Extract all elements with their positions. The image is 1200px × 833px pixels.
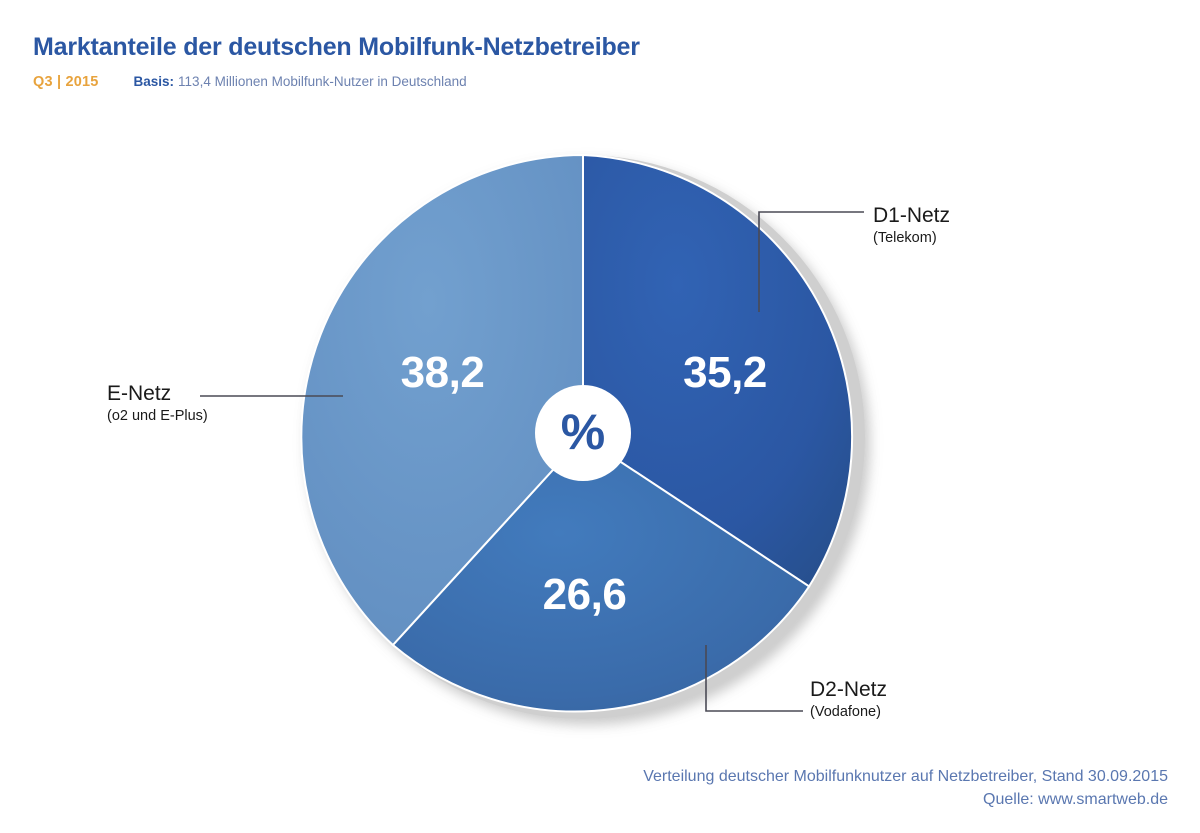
callout-d2: D2-Netz (Vodafone) bbox=[810, 678, 887, 720]
slice-value-d2: 26,6 bbox=[517, 570, 652, 620]
leader-line-d1 bbox=[759, 212, 864, 312]
callout-d2-name: D2-Netz bbox=[810, 678, 887, 702]
basis-value: 113,4 Millionen Mobilfunk-Nutzer in Deut… bbox=[178, 74, 467, 89]
slice-value-e: 38,2 bbox=[375, 348, 510, 398]
callout-d1-name: D1-Netz bbox=[873, 204, 950, 228]
leader-line-d2 bbox=[706, 645, 803, 711]
slice-value-d1: 35,2 bbox=[660, 348, 790, 398]
callout-d1: D1-Netz (Telekom) bbox=[873, 204, 950, 246]
period-label: Q3 | 2015 bbox=[33, 74, 99, 90]
callout-e: E-Netz (o2 und E-Plus) bbox=[107, 382, 208, 424]
callout-e-name: E-Netz bbox=[107, 382, 208, 406]
callout-d2-sub: (Vodafone) bbox=[810, 704, 887, 721]
chart-header: Marktanteile der deutschen Mobilfunk-Net… bbox=[33, 34, 1033, 90]
subtitle-row: Q3 | 2015 Basis: 113,4 Millionen Mobilfu… bbox=[33, 74, 1033, 90]
callout-d1-sub: (Telekom) bbox=[873, 230, 950, 247]
page-title: Marktanteile der deutschen Mobilfunk-Net… bbox=[33, 34, 1033, 62]
footer-source: Quelle: www.smartweb.de bbox=[643, 788, 1168, 811]
footer: Verteilung deutscher Mobilfunknutzer auf… bbox=[643, 765, 1168, 811]
callout-e-sub: (o2 und E-Plus) bbox=[107, 408, 208, 425]
footer-description: Verteilung deutscher Mobilfunknutzer auf… bbox=[643, 765, 1168, 788]
center-hub: % bbox=[535, 385, 631, 481]
percent-symbol: % bbox=[561, 407, 605, 457]
basis-label: Basis: bbox=[134, 74, 175, 89]
